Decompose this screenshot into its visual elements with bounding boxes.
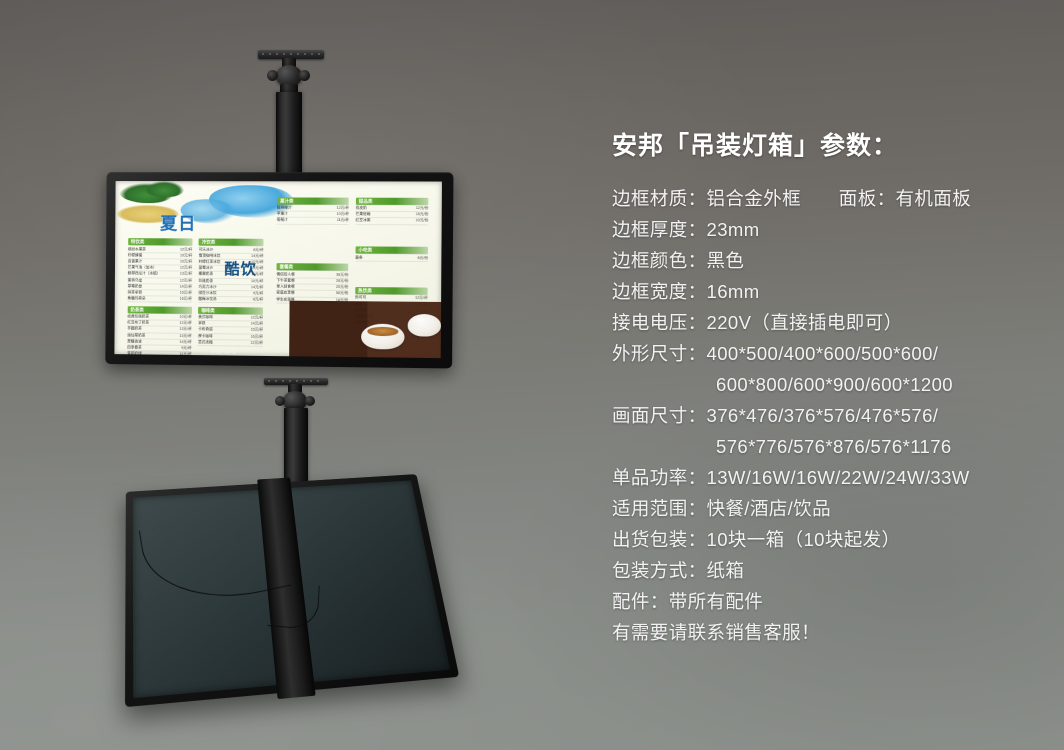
menu-item-name: 芋圆奶茶 [127,327,141,332]
menu-header-artwork [115,181,296,234]
menu-item-row: 酸梅冰饮汤8元/杯 [198,297,263,304]
menu-item-price: 12元/杯 [246,340,262,345]
menu-item-price: 8元/杯 [249,297,263,302]
menu-item-name: 烧仙草奶茶 [127,333,145,338]
menu-item-list: 缤纷水果茶12元/杯柠檬蜂蜜10元/杯百香果汁10元/杯芒果气泡（加冰）12元/… [128,247,193,303]
menu-item-name: 家庭欢享餐 [276,291,294,296]
menu-item-name: 可乐冰沙 [199,247,214,252]
menu-section-header: 套餐类 [277,263,349,271]
menu-item-list: 鲜榨橙汁12元/杯苹果汁10元/杯葡萄汁11元/杯 [277,206,349,225]
menu-item-price: 12元/杯 [176,278,192,283]
menu-watermark: 夏日酷饮 清凉一夏 [211,350,236,354]
menu-section-header: 小吃类 [355,246,428,254]
menu-item-price: 12元/杯 [332,206,349,211]
menu-item-name: 柠檬蜂蜜 [128,253,142,258]
coffee-liquid [368,327,399,336]
menu-item-price: 12元/杯 [247,315,263,320]
menu-item-list: 双皮奶12元/份芒果班戟15元/份红豆冰粥10元/份 [356,206,429,225]
menu-section: 果汁类鲜榨橙汁12元/杯苹果汁10元/杯葡萄汁11元/杯 [277,197,349,225]
spec-line: 接电电压：220V（直接插电即可） [612,307,1042,338]
spec-line: 单品功率：13W/16W/16W/22W/24W/33W [612,462,1042,493]
menu-section: 小吃类薯条8元/份 [355,246,428,261]
spec-line: 边框厚度：23mm [612,214,1042,245]
menu-item-price: 12元/份 [412,206,429,211]
menu-item-name: 雪顶咖啡冰饮 [199,253,221,258]
menu-item-list: 薯条8元/份 [355,255,428,262]
menu-item-price: 13元/杯 [176,272,192,277]
menu-item-name: 情侣双人餐 [276,272,294,277]
spec-line: 有需要请联系销售客服！ [612,617,1042,648]
menu-item-list: 情侣双人餐38元/份下午茶套餐28元/份单人轻食餐25元/份家庭欢享餐58元/份… [276,272,348,304]
menu-item-price: 25元/份 [332,285,349,290]
menu-item-name: 黑糖波波 [127,339,141,344]
coffee-cup-icon [361,323,404,349]
spec-line: 配件：带所有配件 [612,586,1042,617]
menu-item-price: 15元/份 [412,212,429,217]
menu-item-price: 15元/杯 [176,291,192,296]
menu-item-name: 单人轻食餐 [276,285,294,290]
ceiling-mount-upper [252,50,332,175]
menu-item-name: 薯条 [355,255,362,260]
menu-item-price: 13元/杯 [175,333,191,338]
menu-item-name: 茉莉奶绿 [127,352,141,357]
menu-item-name: 四季春茶 [127,345,141,350]
menu-item-price: 13元/杯 [175,327,191,332]
menu-section: 套餐类情侣双人餐38元/份下午茶套餐28元/份单人轻食餐25元/份家庭欢享餐58… [276,263,348,304]
menu-section-header: 热饮类 [355,287,428,295]
spec-line: 外形尺寸：400*500/400*600/500*600/ [612,338,1042,369]
coffee-cup-icon-2 [407,314,441,337]
menu-item-price: 28元/份 [332,279,349,284]
mount-pole-upper [276,92,302,178]
menu-item-price: 10元/份 [412,219,429,224]
menu-item-row: 红豆冰粥10元/份 [356,218,429,225]
menu-item-price: 10元/杯 [175,315,191,320]
menu-section: 咖啡类美式咖啡12元/杯拿铁14元/杯卡布奇诺15元/杯摩卡咖啡16元/杯意式浓… [198,306,263,347]
menu-item-price: 8元/份 [413,255,428,260]
mount-adjust-knob-lower-left [275,396,285,406]
menu-item-name: 美式咖啡 [198,315,213,320]
menu-section-header: 奶茶类 [127,306,191,314]
menu-item-name: 红豆冰粥 [356,218,371,223]
menu-item-price: 10元/杯 [247,279,263,284]
spec-line: 出货包装：10块一箱（10块起发） [612,524,1042,555]
lightbox-rear-frame [125,474,459,707]
menu-item-price: 15元/杯 [247,328,263,333]
menu-artwork-panel: 夏日 酷饮 特饮类缤纷水果茶12元/杯柠檬蜂蜜10元/杯百香果汁10元/杯芒果气… [114,181,442,358]
menu-item-name: 意式浓缩 [198,340,213,345]
spec-line: 画面尺寸：376*476/376*576/476*576/ [612,400,1042,431]
menu-item-name: 鲜榨橙汁 [277,206,292,211]
mount-adjust-knob-lower-right [305,396,315,406]
menu-item-price: 12元/杯 [175,321,191,326]
spec-title: 安邦「吊装灯箱」参数： [612,126,1042,162]
coffee-beans-image [289,300,368,357]
menu-section: 特饮类缤纷水果茶12元/杯柠檬蜂蜜10元/杯百香果汁10元/杯芒果气泡（加冰）1… [128,238,193,303]
mount-adjust-knob-right [299,70,310,81]
menu-item-row: 意式浓缩12元/杯 [198,340,263,347]
menu-item-price: 12元/杯 [176,247,192,252]
menu-item-name: 芒果气泡（加冰） [128,265,157,270]
palm-tree-icon-2 [144,181,184,197]
menu-item-price: 14元/杯 [247,322,263,327]
spec-line: 边框宽度：16mm [612,276,1042,307]
menu-item-price: 14元/杯 [175,340,191,345]
spec-line: 600*800/600*900/600*1200 [612,369,1042,400]
spec-line: 边框颜色：黑色 [612,245,1042,276]
menu-item-name: 双皮奶 [356,206,367,211]
menu-item-price: 14元/杯 [247,254,264,259]
menu-item-name: 巧克力冰沙 [198,285,216,290]
menu-item-name: 摩卡咖啡 [198,334,213,339]
spec-line: 576*776/576*876/576*1176 [612,431,1042,462]
menu-item-price: 16元/杯 [247,334,263,339]
spec-line: 包装方式：纸箱 [612,555,1042,586]
menu-item-name: 酸梅冰饮汤 [198,297,216,302]
lightbox-aluminium-frame: 夏日 酷饮 特饮类缤纷水果茶12元/杯柠檬蜂蜜10元/杯百香果汁10元/杯芒果气… [105,172,453,368]
menu-item-name: 卡布奇诺 [198,327,213,332]
menu-section-header: 咖啡类 [198,306,263,314]
mount-adjust-knob-left [267,70,278,81]
menu-item-name: 鲜榨西瓜汁（冰镇） [128,272,160,277]
menu-item-name: 绿豆沙冰饮 [198,291,216,296]
menu-section: 甜品类双皮奶12元/份芒果班戟15元/份红豆冰粥10元/份 [356,197,429,225]
menu-item-name: 经典珍珠奶茶 [127,314,149,319]
menu-section-header: 特饮类 [128,238,192,245]
menu-item-name: 缤纷水果茶 [128,247,146,252]
specification-panel: 安邦「吊装灯箱」参数： 边框材质：铝合金外框 面板：有机面板边框厚度：23mm边… [612,126,1042,648]
menu-item-price: 38元/份 [332,272,349,277]
menu-item-price: 14元/杯 [247,285,263,290]
menu-item-price: 9元/杯 [249,291,263,296]
menu-title-primary: 夏日 [160,209,196,234]
spec-line: 边框材质：铝合金外框 面板：有机面板 [612,183,1042,214]
lightbox-rear-panel[interactable] [125,474,459,707]
menu-item-name: 百香果汁 [128,259,142,264]
menu-item-name: 焦糖玛奇朵 [128,296,146,301]
menu-item-name: 抹茶拿铁 [128,290,142,295]
menu-item-name: 珍珠奶茶 [198,278,213,283]
menu-item-list: 经典珍珠奶茶10元/杯红豆布丁奶茶12元/杯芋圆奶茶13元/杯烧仙草奶茶13元/… [127,314,192,358]
menu-item-price: 58元/份 [332,291,349,296]
menu-section-header: 甜品类 [356,197,429,204]
menu-item-price: 10元/杯 [332,212,349,217]
menu-item-row: 茉莉奶绿11元/杯 [127,352,191,359]
menu-item-price: 10元/杯 [247,260,263,265]
menu-item-price: 10元/杯 [176,259,192,264]
menu-item-row: 焦糖玛奇朵16元/杯 [128,296,192,303]
menu-item-name: 红豆布丁奶茶 [127,320,149,325]
menu-item-row: 葡萄汁11元/杯 [277,218,349,225]
menu-item-price: 8元/杯 [249,247,263,252]
menu-item-price: 9元/杯 [177,346,191,351]
menu-section: 冷饮类可乐冰沙8元/杯雪顶咖啡冰饮14元/杯柠檬红茶冰饮10元/杯蓝莓冰沙13元… [198,239,263,304]
menu-item-price: 13元/杯 [247,266,263,271]
lightbox-display[interactable]: 夏日 酷饮 特饮类缤纷水果茶12元/杯柠檬蜂蜜10元/杯百香果汁10元/杯芒果气… [105,172,453,368]
coffee-photo [289,300,441,358]
menu-item-price: 12元/杯 [176,266,192,271]
menu-item-name: 芒果班戟 [356,212,371,217]
menu-item-name: 下午茶套餐 [276,278,294,283]
menu-section-header: 果汁类 [277,197,349,204]
menu-section-header: 冷饮类 [199,239,264,246]
menu-item-name: 柠檬红茶冰饮 [199,260,221,265]
menu-item-name: 蜜桃乌龙 [128,278,142,283]
menu-item-name: 蓝莓冰沙 [199,266,214,271]
menu-item-price: 11元/杯 [175,352,191,357]
power-cable-segment [267,581,320,631]
menu-item-name: 苹果汁 [277,212,288,217]
menu-item-row: 薯条8元/份 [355,255,428,262]
lightbox-rear-surface [133,480,450,698]
spec-line-list: 边框材质：铝合金外框 面板：有机面板边框厚度：23mm边框颜色：黑色边框宽度：1… [612,183,1042,648]
menu-item-price: 14元/杯 [176,284,192,289]
menu-item-price: 11元/杯 [247,272,263,277]
product-photo-screenshot: 夏日 酷饮 特饮类缤纷水果茶12元/杯柠檬蜂蜜10元/杯百香果汁10元/杯芒果气… [0,0,1064,750]
menu-section: 奶茶类经典珍珠奶茶10元/杯红豆布丁奶茶12元/杯芋圆奶茶13元/杯烧仙草奶茶1… [127,306,192,358]
menu-item-list: 美式咖啡12元/杯拿铁14元/杯卡布奇诺15元/杯摩卡咖啡16元/杯意式浓缩12… [198,315,263,347]
menu-item-list: 可乐冰沙8元/杯雪顶咖啡冰饮14元/杯柠檬红茶冰饮10元/杯蓝莓冰沙13元/杯椰… [198,247,263,304]
menu-item-price: 16元/杯 [176,297,192,302]
spec-line: 适用范围：快餐/酒店/饮品 [612,493,1042,524]
menu-item-price: 11元/杯 [333,218,349,223]
menu-item-name: 草莓奶昔 [128,284,142,289]
menu-item-name: 拿铁 [198,321,205,326]
menu-item-price: 10元/杯 [176,253,192,258]
menu-item-name: 葡萄汁 [277,218,288,223]
menu-item-name: 椰果奶茶 [199,272,214,277]
